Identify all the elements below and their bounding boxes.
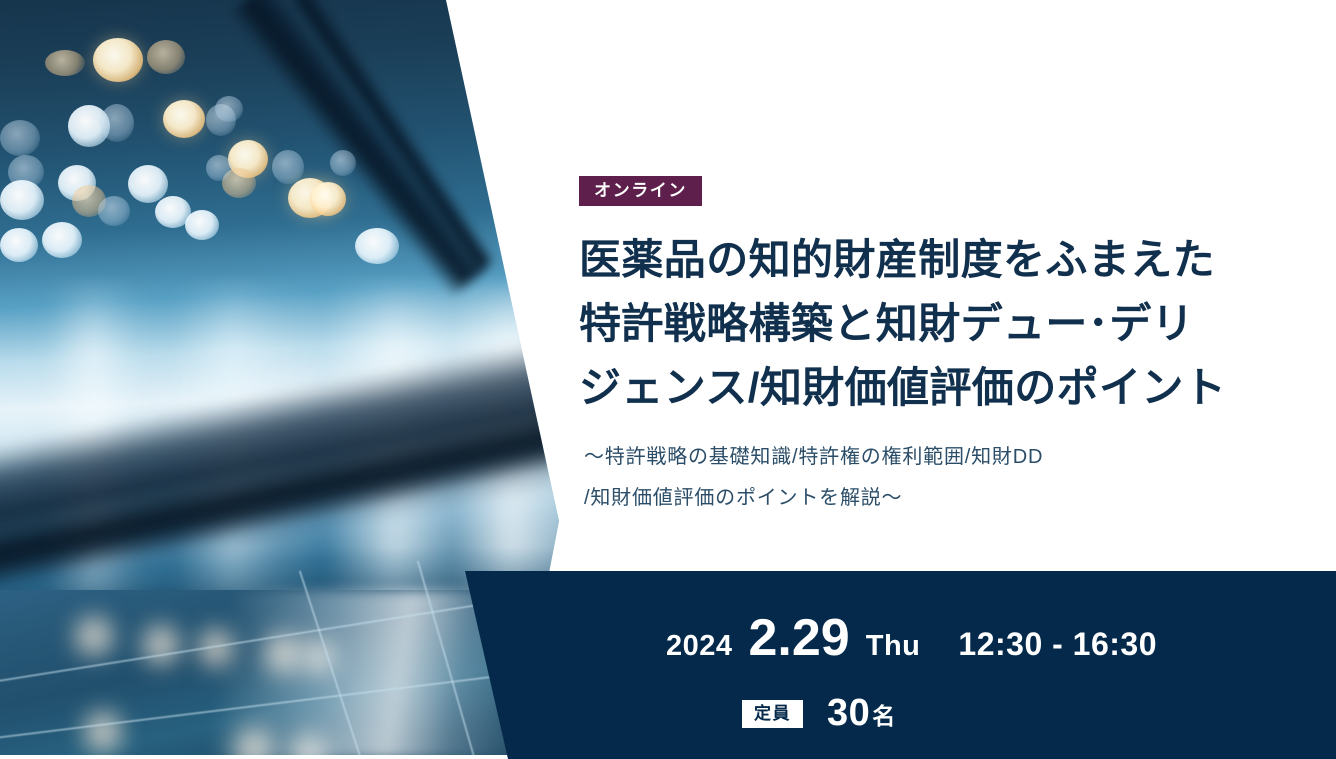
schedule-day: 2.29 — [749, 608, 850, 668]
schedule-date-row: 2024 2.29 Thu 12:30 - 16:30 — [666, 608, 1157, 668]
schedule-year: 2024 — [666, 630, 733, 663]
online-badge: オンライン — [579, 176, 702, 206]
banner-content: オンライン 医薬品の知的財産制度をふまえた 特許戦略構築と知財デュー･デリ ジェ… — [579, 0, 1336, 560]
seminar-subtitle: ～特許戦略の基礎知識/特許権の権利範囲/知財DD /知財価値評価のポイントを解説… — [584, 437, 1284, 519]
title-line-3: ジェンス/知財価値評価のポイント — [579, 356, 1336, 420]
schedule-time: 12:30 - 16:30 — [958, 626, 1157, 663]
seminar-title: 医薬品の知的財産制度をふまえた 特許戦略構築と知財デュー･デリ ジェンス/知財価… — [579, 228, 1336, 420]
capacity-row: 定員 30 名 — [742, 692, 895, 735]
title-line-2: 特許戦略構築と知財デュー･デリ — [579, 292, 1336, 356]
schedule-weekday: Thu — [866, 630, 921, 663]
capacity-number: 30 — [827, 692, 870, 735]
capacity-label: 定員 — [742, 700, 803, 728]
title-line-1: 医薬品の知的財産制度をふまえた — [579, 228, 1336, 292]
seminar-banner: オンライン 医薬品の知的財産制度をふまえた 特許戦略構築と知財デュー･デリ ジェ… — [0, 0, 1336, 759]
photo-bottom-strip — [0, 755, 520, 759]
capacity-unit: 名 — [872, 697, 895, 731]
subtitle-line-1: ～特許戦略の基礎知識/特許権の権利範囲/知財DD — [584, 437, 1284, 478]
subtitle-line-2: /知財価値評価のポイントを解説～ — [584, 478, 1284, 519]
